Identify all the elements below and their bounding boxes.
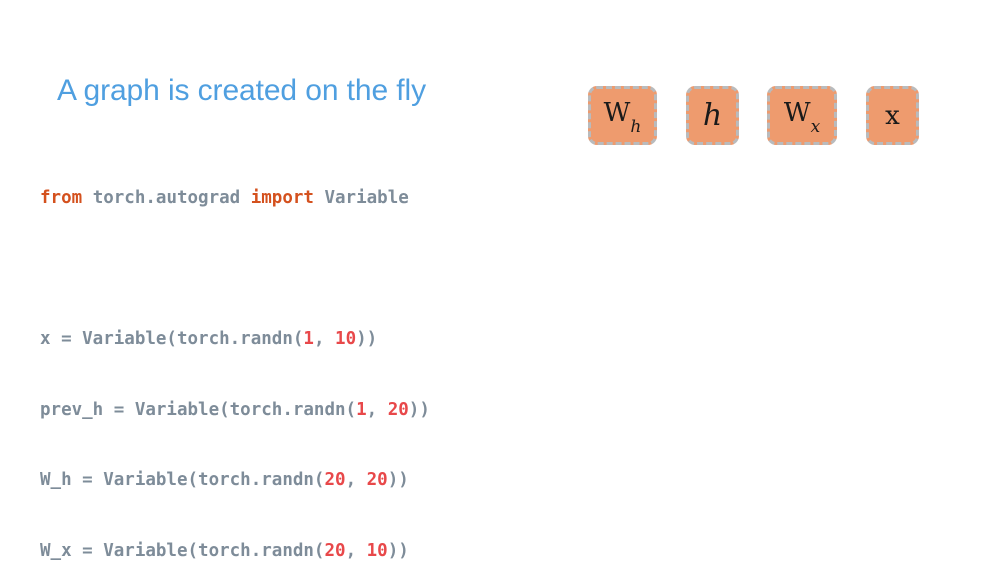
graph-node-base: x — [885, 101, 900, 131]
graph-node-w-x[interactable]: Wx — [767, 86, 837, 145]
code-token: 20 — [324, 541, 345, 561]
code-token: 20 — [324, 470, 345, 490]
code-token: )) — [388, 470, 409, 490]
code-token: from — [40, 188, 82, 208]
code-token: x = Variable(torch.randn( — [40, 329, 303, 349]
code-token: , — [314, 329, 335, 349]
code-block: from torch.autograd import Variable x = … — [40, 140, 430, 587]
code-token: prev_h = Variable(torch.randn( — [40, 400, 356, 420]
graph-node-label: Wx — [784, 100, 820, 131]
page-title: A graph is created on the fly — [57, 74, 426, 108]
code-token: , — [367, 400, 388, 420]
code-token: , — [346, 541, 367, 561]
code-line: W_h = Variable(torch.randn(20, 20)) — [40, 469, 430, 493]
code-line: x = Variable(torch.randn(1, 10)) — [40, 328, 430, 352]
code-token: )) — [356, 329, 377, 349]
code-token: import — [251, 188, 314, 208]
code-token: )) — [409, 400, 430, 420]
code-line: prev_h = Variable(torch.randn(1, 20)) — [40, 399, 430, 423]
code-token: 1 — [303, 329, 314, 349]
code-line-blank — [40, 258, 430, 282]
code-token: 20 — [388, 400, 409, 420]
code-token: 1 — [356, 400, 367, 420]
code-token: W_x = Variable(torch.randn( — [40, 541, 324, 561]
code-token: Variable — [314, 188, 409, 208]
code-line: from torch.autograd import Variable — [40, 187, 430, 211]
graph-node-x[interactable]: x — [866, 86, 919, 145]
graph-node-subscript: h — [630, 117, 641, 137]
graph-node-base: W — [604, 98, 631, 128]
code-token: 10 — [367, 541, 388, 561]
graph-node-label: Wh — [604, 100, 642, 131]
graph-node-label: x — [885, 103, 900, 129]
code-line: W_x = Variable(torch.randn(20, 10)) — [40, 540, 430, 564]
graph-node-h[interactable]: h — [686, 86, 739, 145]
code-token: , — [346, 470, 367, 490]
code-token: 20 — [367, 470, 388, 490]
code-token: torch.autograd — [82, 188, 251, 208]
graph-node-base: h — [703, 98, 722, 133]
code-token: W_h = Variable(torch.randn( — [40, 470, 324, 490]
code-token: 10 — [335, 329, 356, 349]
graph-node-subscript: x — [811, 117, 821, 137]
graph-node-base: W — [784, 98, 811, 128]
code-token: )) — [388, 541, 409, 561]
graph-node-w-h[interactable]: Wh — [588, 86, 657, 145]
graph-node-label: h — [703, 101, 722, 131]
